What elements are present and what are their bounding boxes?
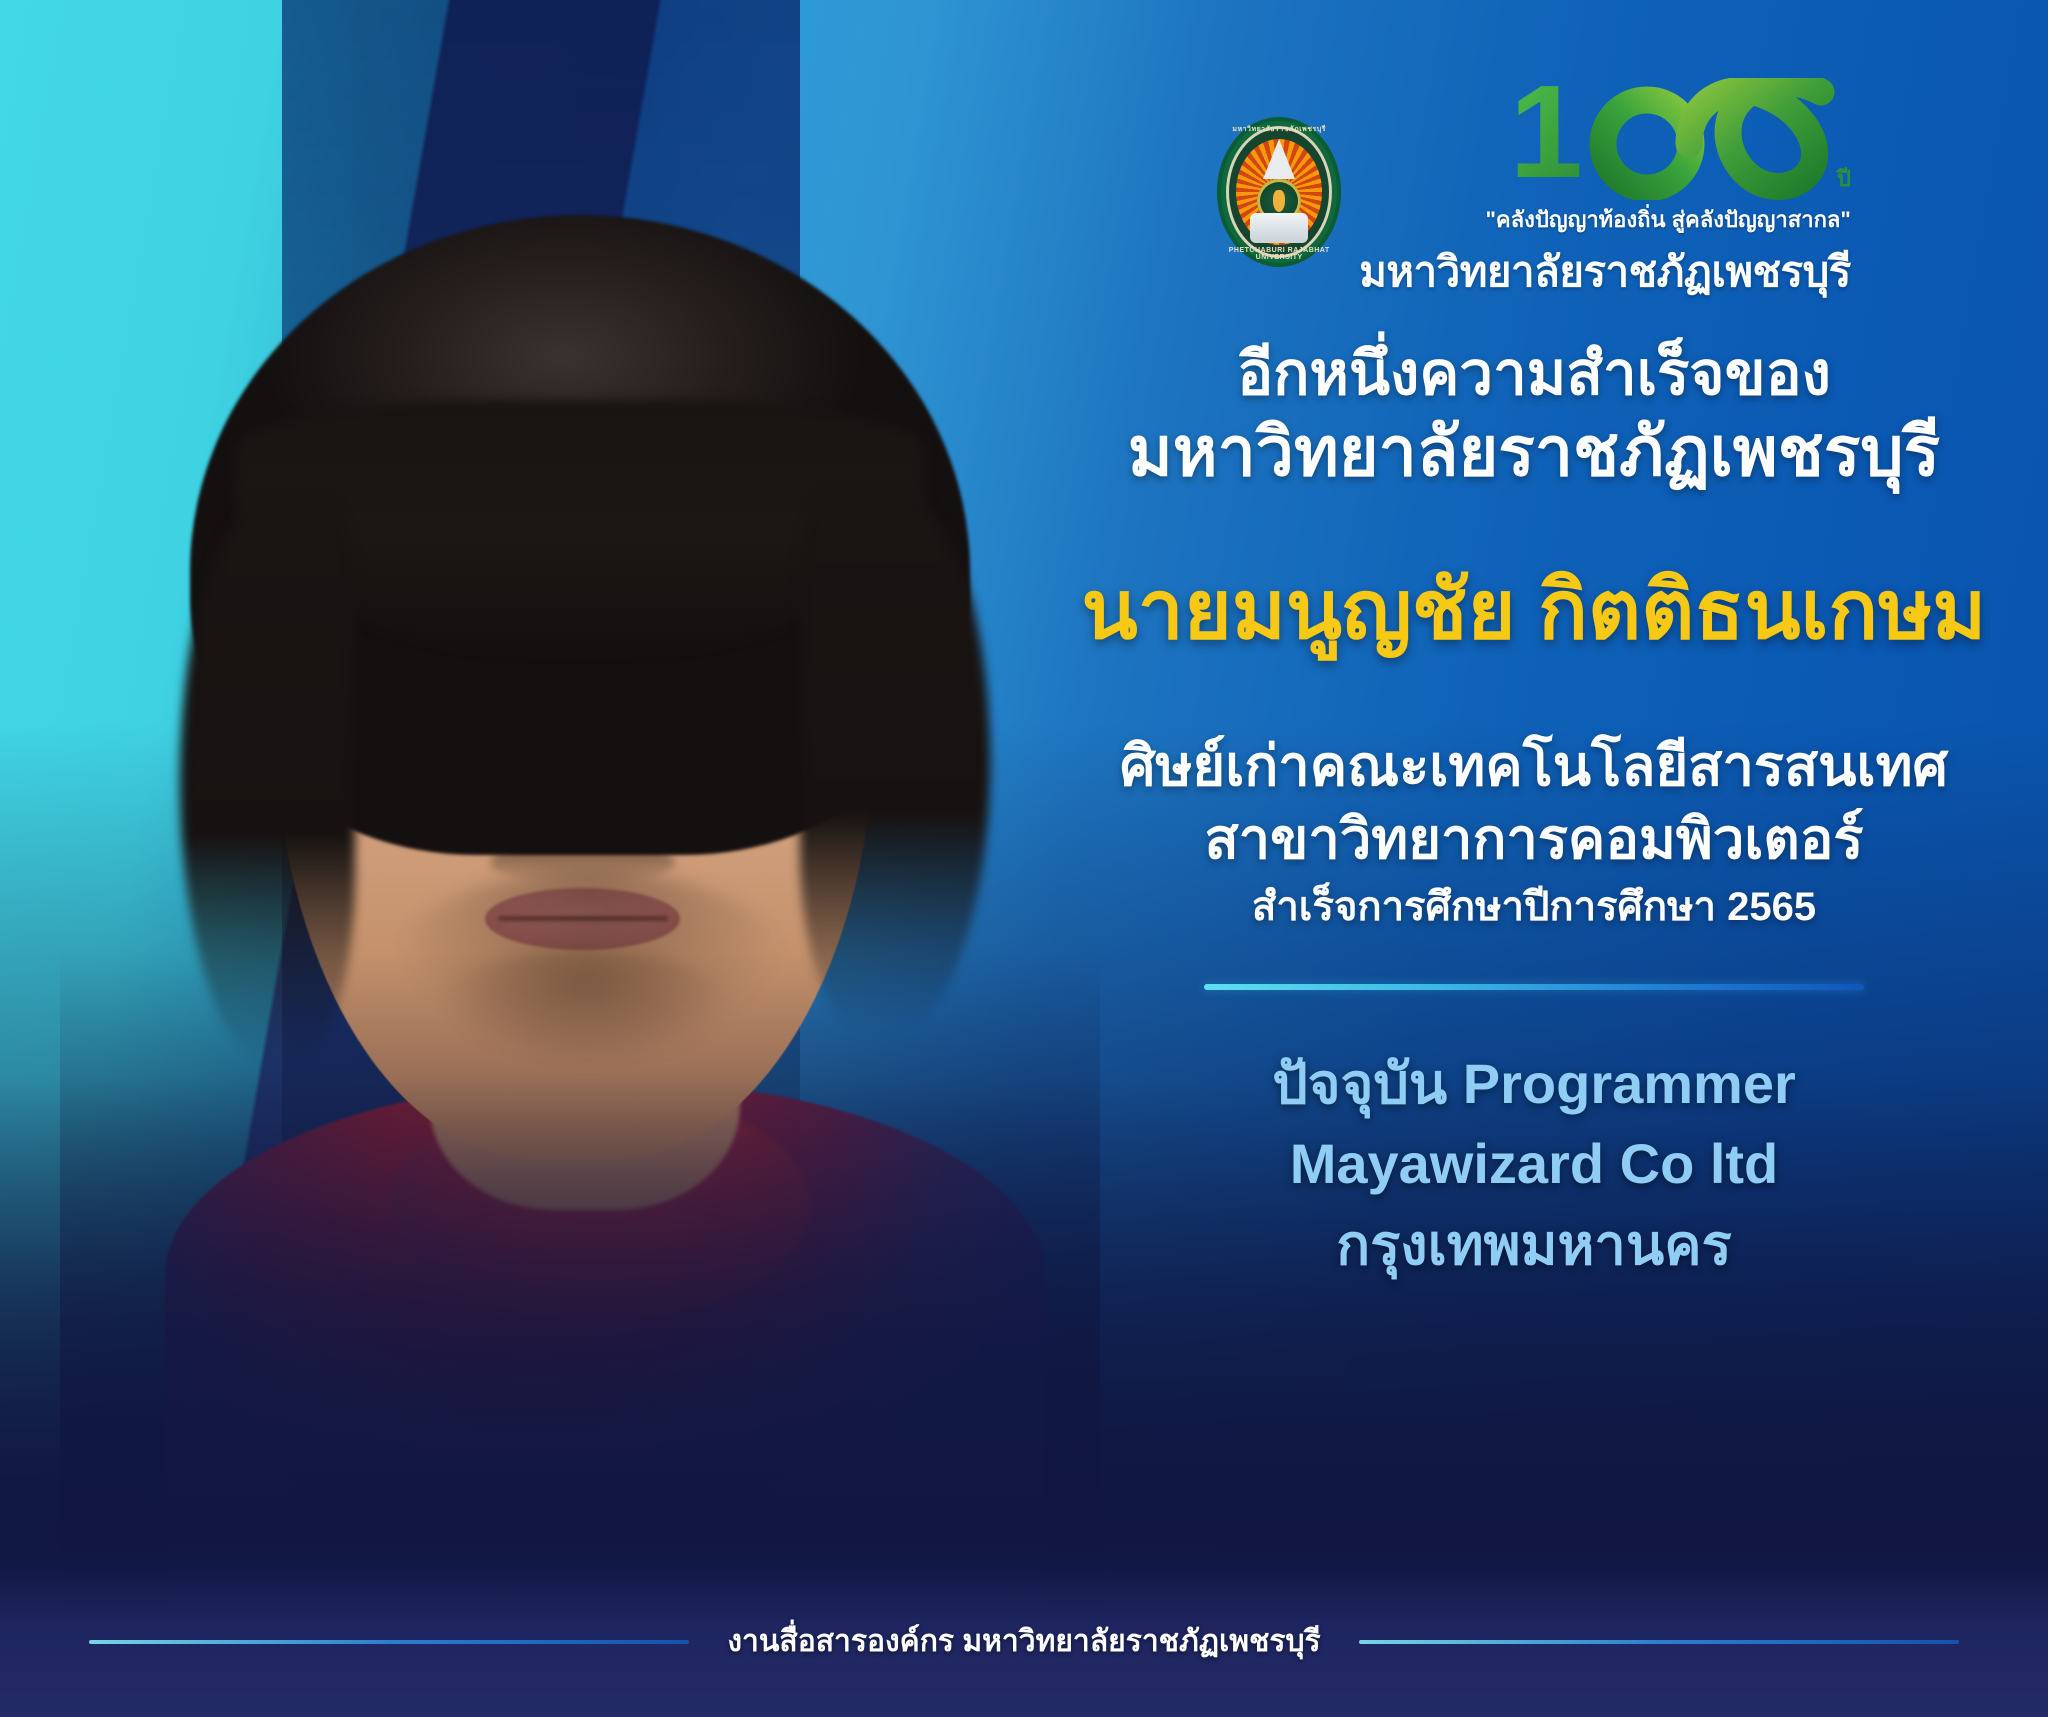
seal-text-bottom: PHETCHABURI RAJABHAT UNIVERSITY xyxy=(1217,247,1341,261)
seal-pedestal xyxy=(1250,213,1308,243)
anniversary-year-suffix: ปี xyxy=(1837,170,1851,188)
education-faculty: ศิษย์เก่าคณะเทคโนโลยีสารสนเทศ xyxy=(1120,732,1948,800)
university-logo-lockup: มหาวิทยาลัยราชภัฏเพชรบุรี PHETCHABURI RA… xyxy=(1217,78,1851,305)
footer-credit-text: งานสื่อสารองค์กร มหาวิทยาลัยราชภัฏเพชรบุ… xyxy=(727,1618,1320,1665)
heading-line-1: อีกหนึ่งความสำเร็จของ xyxy=(1237,339,1831,410)
logo-slogan: "คลังปัญญาท้องถิ่น สู่คลังปัญญาสากล" xyxy=(1486,202,1851,237)
education-major: สาขาวิทยาการคอมพิวเตอร์ xyxy=(1120,805,1948,873)
anniversary-infinity-icon xyxy=(1585,78,1835,200)
footer-rule-right xyxy=(1359,1640,1959,1644)
footer: งานสื่อสารองค์กร มหาวิทยาลัยราชภัฏเพชรบุ… xyxy=(0,1618,2048,1665)
education-block: ศิษย์เก่าคณะเทคโนโลยีสารสนเทศ สาขาวิทยาก… xyxy=(1120,732,1948,931)
university-seal-icon: มหาวิทยาลัยราชภัฏเพชรบุรี PHETCHABURI RA… xyxy=(1217,117,1341,267)
poster-root: มหาวิทยาลัยราชภัฏเพชรบุรี PHETCHABURI RA… xyxy=(0,0,2048,1717)
education-graduation-year: สำเร็จการศึกษาปีการศึกษา 2565 xyxy=(1120,883,1948,932)
logo-university-name: มหาวิทยาลัยราชภัฏเพชรบุรี xyxy=(1359,239,1851,305)
heading-line-2: มหาวิทยาลัยราชภัฏเพชรบุรี xyxy=(1128,412,1940,492)
seal-spire-icon xyxy=(1263,139,1295,179)
section-divider xyxy=(1204,984,1864,990)
current-job-block: ปัจจุบัน Programmer Mayawizard Co ltd กร… xyxy=(1272,1048,1796,1282)
logo-right-group: 1 xyxy=(1359,78,1851,305)
current-location: กรุงเทพมหานคร xyxy=(1272,1209,1796,1282)
content-column: มหาวิทยาลัยราชภัฏเพชรบุรี PHETCHABURI RA… xyxy=(1020,0,2048,1717)
current-company: Mayawizard Co ltd xyxy=(1272,1128,1796,1201)
seal-text-top: มหาวิทยาลัยราชภัฏเพชรบุรี xyxy=(1217,124,1341,135)
person-name: นายมนูญชัย กิตติธนเกษม xyxy=(1082,566,1987,656)
current-position: ปัจจุบัน Programmer xyxy=(1272,1048,1796,1121)
anniversary-digit-one: 1 xyxy=(1509,78,1582,186)
footer-rule-left xyxy=(89,1640,689,1644)
anniversary-100-mark: 1 xyxy=(1509,78,1850,200)
